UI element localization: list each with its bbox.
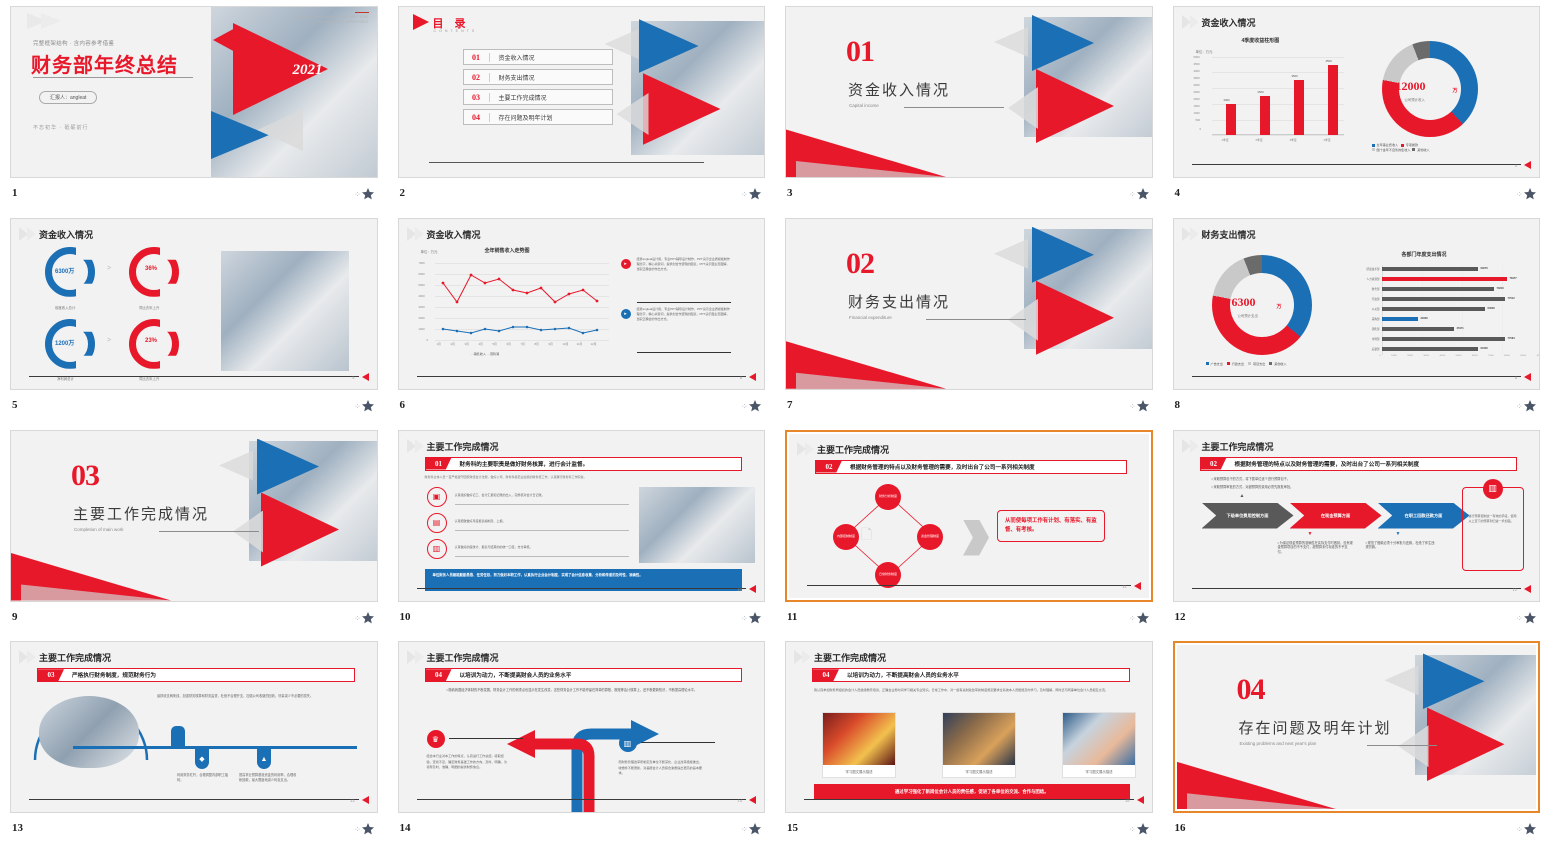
diamond-node-top: 财务分析制度 (875, 484, 901, 510)
slide-cell-5[interactable]: 资金收入情况 6300万 前度收入总计 > 36% 同比去年上升 1200万 净… (0, 212, 388, 424)
slide-cell-15[interactable]: 主要工作完成情况 04 以培训为动力，不断提高财会人员的业务水平 我认真参加财务… (775, 635, 1163, 847)
donut-legend: 全年事业费收入 专项拨款 国十金年不自筹的集收入 其他收入 (1372, 143, 1502, 152)
legend-item-2: 国十金年不自筹的集收入 (1377, 148, 1411, 152)
legend-item-1: 专项拨款 (1406, 143, 1418, 147)
bar-value-q2: 2500 (1258, 90, 1264, 94)
note-bullet-icon-1: ▸ (621, 259, 631, 269)
hbar-chart-title: 各部门年度支出情况 (1402, 251, 1447, 258)
slide-meta-10: 10 ⁘ (398, 602, 766, 632)
header-ghost-icon (1182, 227, 1200, 241)
slide-title: 主要工作完成情况 (1202, 440, 1274, 453)
svg-text:⁘: ⁘ (741, 614, 748, 623)
slide-thumbnail-6[interactable]: 资金收入情况 单位：万元 全年销售收入走势图 7000 6000 5000 40… (398, 218, 766, 390)
chev-note-2-text: 规范了借款必须十分审批与还款，杜绝了伴生违规贷款。 (1366, 541, 1435, 550)
favorite-star-icon[interactable]: ⁘ (1516, 821, 1538, 835)
slide-meta-1: 1 ⁘ (10, 178, 378, 208)
slide-meta-4: 4 ⁘ (1173, 178, 1541, 208)
legend-item-0: 全年事业费收入 (1377, 143, 1399, 147)
bar-cat-q2: 2季度 (1256, 138, 1263, 142)
slide-page-label: 12 (1513, 587, 1517, 592)
bar-value-q1: 2000 (1224, 98, 1230, 102)
slide-thumbnail-16[interactable]: 04 存在问题及明年计划 Existing problems and next … (1173, 641, 1541, 813)
bar-q2 (1260, 96, 1270, 135)
svg-text:⁘: ⁘ (1129, 825, 1136, 834)
hbar-value-1: 78477 (1510, 277, 1517, 280)
hbar-label-4: 公关部 (1336, 307, 1380, 311)
hbar-label-8: 后勤部 (1336, 347, 1380, 351)
svg-text:⁘: ⁘ (1516, 190, 1523, 199)
bar-cat-q3: 3季度 (1290, 138, 1297, 142)
slide-title: 主要工作完成情况 (814, 651, 886, 664)
toc-item-01[interactable]: 01 资金收入情况 (463, 49, 613, 65)
slide-meta-7: 7 ⁘ (785, 390, 1153, 420)
slide-cell-8[interactable]: 财务支出情况 6300 万 公司预计支出 广告支出 行政支出 项目支出 其他收入… (1163, 212, 1550, 424)
slide-baseline (29, 799, 359, 800)
header-ghost-icon (794, 650, 812, 664)
bar-value-q3: 3500 (1292, 74, 1298, 78)
favorite-star-icon[interactable]: ⁘ (741, 610, 763, 624)
slide-cell-9[interactable]: 03 主要工作完成情况 Completion of main work 9 ⁘ (0, 424, 388, 636)
hbar-3 (1382, 297, 1505, 301)
slide-meta-6: 6 ⁘ (398, 390, 766, 420)
cover-year: 2021 (293, 62, 323, 79)
line-chart-unit: 单位：万元 (421, 249, 438, 254)
slide-meta-12: 12 ⁘ (1173, 602, 1541, 632)
favorite-star-icon[interactable]: ⁘ (354, 186, 376, 200)
slide-baseline (1192, 588, 1522, 589)
side-note-text: 进行预算控制这一有效的手段，使用从上至下的预算到归进一步加强。 (1469, 514, 1517, 524)
slide-grid: ANNUAL WORK SUMMARY AND NEXT YEAR PLAN O… (0, 0, 1550, 847)
next-arrow-icon (749, 373, 756, 381)
toc-item-label: 资金收入情况 (490, 53, 612, 62)
top-bullet: ▪ 随着我国经济体制的不断发展，财务会计工作的侧重点也显示在发生改变，这些财务会… (447, 688, 735, 693)
right-note-text: 而财务管理改革所制定及单位不断深化，企业改革措施推出，收缴件不断更新，对基层会计… (619, 760, 703, 776)
chev-note-2: • 规范了借款必须十分审批与还款，杜绝了伴生违规贷款。 (1366, 541, 1438, 551)
slide-baseline (29, 376, 359, 377)
favorite-star-icon[interactable]: ⁘ (1129, 821, 1151, 835)
slide-meta-9: 9 ⁘ (10, 602, 378, 632)
line-cat-4: 4月 (479, 342, 483, 346)
hbar-4 (1382, 307, 1485, 311)
slide-thumbnail-14[interactable]: 主要工作完成情况 04 以培训为动力，不断提高财会人员的业务水平 ▪ 随着我国经… (398, 641, 766, 813)
svg-text:⁘: ⁘ (354, 614, 361, 623)
toc-item-03[interactable]: 03 主要工作完成情况 (463, 89, 613, 105)
row-text-3: 认真做好的度统计、报表与结算的的统一口径，支付审核。 (455, 545, 625, 549)
slide-page-label: 4 (1515, 163, 1517, 168)
band-number: 02 (1201, 458, 1227, 470)
bar-chart-title: 4季度收益柱形图 (1242, 37, 1280, 44)
slide-baseline (417, 799, 747, 800)
slide-number: 15 (787, 822, 798, 834)
slide-cell-2[interactable]: 目 录 CONTENTS 01 资金收入情况 02 财务支出情况 03 主要工作… (388, 0, 776, 212)
legend-item-3: 其他收入 (1274, 362, 1286, 366)
slide-thumbnail-8[interactable]: 财务支出情况 6300 万 公司预计支出 广告支出 行政支出 项目支出 其他收入… (1173, 218, 1541, 390)
header-ghost-icon (407, 439, 425, 453)
slide-meta-2: 2 ⁘ (398, 178, 766, 208)
slide-meta-13: 13 ⁘ (10, 813, 378, 843)
donut-legend: 广告支出 行政支出 项目支出 其他收入 (1206, 362, 1326, 367)
hbar-xticks: 0100002000030000400005000060000700008000… (1380, 355, 1540, 357)
svg-text:⁘: ⁘ (1516, 402, 1523, 411)
document-icon: ▣ (427, 487, 447, 507)
slide-thumbnail-1[interactable]: ANNUAL WORK SUMMARY AND NEXT YEAR PLAN O… (10, 6, 378, 178)
side-note-box: ▥ 进行预算控制这一有效的手段，使用从上至下的预算到归进一步加强。 (1462, 487, 1524, 571)
section-title-en: Completion of main work (74, 527, 124, 532)
slide-meta-16: 16 ⁘ (1173, 813, 1541, 843)
header-ghost-icon (19, 650, 37, 664)
intro-text: 财务科全体人员一直严格遵守国家财经会计法规，做好公司、财务科模范业绩核的财务核工… (425, 475, 755, 480)
image-card-2[interactable]: 学习图文展示描述 (942, 712, 1016, 778)
slide-cell-12[interactable]: 主要工作完成情况 02 根据财务管理的特点以及财务管理的需要，及时出台了公司一系… (1163, 424, 1550, 636)
slide-page-label: 10 (738, 587, 742, 592)
chevron-step-1: 下级单位费用控制方面 (1202, 503, 1294, 529)
line-cat-12: 12月 (591, 342, 597, 346)
medal-icon: ♛ (427, 730, 445, 748)
toc-item-04[interactable]: 04 存在问题及明年计划 (463, 109, 613, 125)
toc-item-number: 03 (464, 93, 490, 102)
slide-cell-3[interactable]: 01 资金收入情况 Capital income 3 ⁘ (775, 0, 1163, 212)
card-image (1063, 713, 1135, 765)
diamond-node-right: 资金管理制度 (917, 524, 943, 550)
slide-page-label: 11 (1122, 584, 1126, 589)
favorite-star-icon[interactable]: ⁘ (1129, 186, 1151, 200)
line-chart-plot: 7000 6000 5000 4000 3000 2000 1000 0 (419, 261, 609, 349)
hbar-value-5: 22320 (1421, 317, 1428, 320)
bar-q1 (1226, 104, 1236, 135)
svg-text:⁘: ⁘ (354, 825, 361, 834)
ring-value-income: 6300万 (55, 266, 74, 275)
ring-value-growth-2: 23% (145, 338, 157, 344)
toc-item-label: 财务支出情况 (490, 73, 612, 82)
down-triangle-icon-2: ▼ (1396, 531, 1401, 537)
line-cat-1: 1月 (437, 342, 441, 346)
hbar-value-6: 45471 (1457, 327, 1464, 330)
hbar-5 (1382, 317, 1418, 321)
card-image (823, 713, 895, 765)
section-divider (926, 319, 1026, 320)
next-arrow-icon (1134, 582, 1141, 590)
slide-number: 9 (12, 611, 18, 623)
slide-title: 主要工作完成情况 (427, 440, 499, 453)
favorite-star-icon[interactable]: ⁘ (1129, 398, 1151, 412)
favorite-star-icon[interactable]: ⁘ (354, 398, 376, 412)
slide-thumbnail-11[interactable]: 主要工作完成情况 02 根据财务管理的特点以及财务管理的需要，及时出台了公司一系… (785, 430, 1153, 602)
slide-title: 资金收入情况 (427, 228, 481, 241)
slide-thumbnail-3[interactable]: 01 资金收入情况 Capital income (785, 6, 1153, 178)
section-title-en: Capital income (849, 103, 879, 108)
bar-cat-q1: 1季度 (1222, 138, 1229, 142)
band-number: 02 (816, 461, 842, 473)
section-title: 资金收入情况 (848, 79, 950, 100)
toc-heading-en: CONTENTS (434, 29, 478, 33)
next-arrow-icon (1524, 373, 1531, 381)
ring-caption-growth-1: 同比去年上升 (139, 305, 159, 310)
cover-presenter: 汇报人：angleat (39, 91, 97, 104)
section-divider (904, 107, 1004, 108)
callout-text: 从而使每项工作有计划、有落实、有监督、有考核。 (997, 510, 1105, 542)
legend-item-3: 其他收入 (1417, 148, 1429, 152)
slide-meta-11: 11 ⁘ (785, 602, 1153, 632)
slide-number: 16 (1175, 822, 1186, 834)
cover-rule-top (355, 12, 369, 13)
slide-meta-8: 8 ⁘ (1173, 390, 1541, 420)
slide-thumbnail-10[interactable]: 主要工作完成情况 01 财务科的主要职责是做好财务核算，进行会计监督。 财务科全… (398, 430, 766, 602)
slide-thumbnail-2[interactable]: 目 录 CONTENTS 01 资金收入情况 02 财务支出情况 03 主要工作… (398, 6, 766, 178)
band-text: 严格执行财务制度，规范财务行为 (64, 671, 156, 679)
image-card-1[interactable]: 学习图文展示描述 (822, 712, 896, 778)
cover-english-note: ANNUAL WORK SUMMARY AND NEXT YEAR PLAN O… (289, 15, 369, 26)
line-cat-11: 11月 (577, 342, 583, 346)
chev-note-1: • 为保证现金预算的准确性在实际支付时做到，没有现金预算项目的不予支付，超预算未… (1278, 541, 1354, 556)
favorite-star-icon[interactable]: ⁘ (354, 610, 376, 624)
slide-baseline (417, 588, 747, 589)
section-title: 财务支出情况 (848, 291, 950, 312)
growth-icon: ▲ (257, 749, 271, 769)
toc-item-number: 02 (464, 73, 490, 82)
bullet-1: • 采取预算包干的方式，将下属单位逐个进行预算包干。 (1212, 477, 1462, 482)
line-legend: ···销售收入 ···营利润 (471, 352, 500, 357)
slide-title: 财务支出情况 (1202, 228, 1256, 241)
hbar-value-3: 77012 (1508, 297, 1515, 300)
header-ghost-icon (1182, 439, 1200, 453)
slide-thumbnail-7[interactable]: 02 财务支出情况 Financial expenditure (785, 218, 1153, 390)
top-bullet-text: 随着我国经济体制的不断发展，财务会计工作的侧重点也显示在发生改变，这些财务会计工… (449, 688, 698, 692)
bullet-2-text: 采取预算审批的方式，对超预算的费用必须先报批审批。 (1214, 485, 1294, 489)
svg-text:⁘: ⁘ (741, 402, 748, 411)
svg-text:⁘: ⁘ (1129, 190, 1136, 199)
file-icon: 🗋 (861, 524, 872, 548)
slide-title: 主要工作完成情况 (427, 651, 499, 664)
hbar-label-6: 销售部 (1336, 327, 1380, 331)
slide-thumbnail-15[interactable]: 主要工作完成情况 04 以培训为动力，不断提高财会人员的业务水平 我认真参加财务… (785, 641, 1153, 813)
slide-cell-16[interactable]: 04 存在问题及明年计划 Existing problems and next … (1163, 635, 1550, 847)
slide-cell-13[interactable]: 主要工作完成情况 03 严格执行财务制度，规范财务行为 最抓收支两条线，加强财务… (0, 635, 388, 847)
slide-number: 3 (787, 187, 793, 199)
slide-cell-1[interactable]: ANNUAL WORK SUMMARY AND NEXT YEAR PLAN O… (0, 0, 388, 212)
note-text-1: 利用财务杠杆，合理调整内部职工福利； (177, 773, 233, 783)
hbar-0 (1382, 267, 1478, 271)
slide-number: 10 (400, 611, 411, 623)
card-caption: 学习图文展示描述 (1063, 765, 1135, 777)
band-number: 04 (426, 669, 452, 681)
slide-thumbnail-5[interactable]: 资金收入情况 6300万 前度收入总计 > 36% 同比去年上升 1200万 净… (10, 218, 378, 390)
donut-center-caption: 公司预计收入 (1405, 97, 1425, 102)
header-ghost-icon (407, 227, 425, 241)
slide-page-label: 14 (738, 798, 742, 803)
slide-page-label: 13 (350, 798, 354, 803)
slide-baseline (417, 376, 747, 377)
slide-page-label: 6 (740, 375, 742, 380)
next-arrow-icon (1524, 585, 1531, 593)
slide-title: 资金收入情况 (39, 228, 93, 241)
slide-baseline (1192, 376, 1522, 377)
note-text-2: 提高事业预算基准资金的利用率，合理收帐回款，最大限度地减少利息支出。 (239, 773, 299, 783)
image-card-3[interactable]: 学习图文展示描述 (1062, 712, 1136, 778)
legend-item-0: 广告支出 (1211, 362, 1223, 366)
hbar-chart-plot: 研发技术部 60270 人力资源部 78477 财务部 70240 行政部 77… (1336, 265, 1540, 361)
legend-series-2: 营利润 (490, 352, 499, 356)
donut-chart (1212, 255, 1312, 355)
toc-list: 01 资金收入情况 02 财务支出情况 03 主要工作完成情况 04 存在问题及… (463, 49, 613, 129)
card-caption: 学习图文展示描述 (943, 765, 1015, 777)
slide-cell-10[interactable]: 主要工作完成情况 01 财务科的主要职责是做好财务核算，进行会计监督。 财务科全… (388, 424, 776, 636)
section-title: 存在问题及明年计划 (1239, 717, 1392, 738)
toc-item-label: 存在问题及明年计划 (490, 113, 612, 122)
chev-note-1-text: 为保证现金预算的准确性在实际支付时做到，没有现金预算项目的不予支付，超预算未付标… (1278, 541, 1353, 555)
hbar-label-0: 研发技术部 (1336, 267, 1380, 271)
next-arrow-icon (1137, 796, 1144, 804)
section-number: 03 (71, 459, 99, 493)
slide-cell-6[interactable]: 资金收入情况 单位：万元 全年销售收入走势图 7000 6000 5000 40… (388, 212, 776, 424)
donut-center-unit: 万 (1277, 303, 1282, 310)
svg-text:⁘: ⁘ (741, 190, 748, 199)
note-bullet-icon-2: ▸ (621, 309, 631, 319)
section-band: 01 财务科的主要职责是做好财务核算，进行会计监督。 (425, 457, 743, 471)
up-triangle-icon: ▲ (1240, 493, 1245, 499)
hbar-value-7: 77084 (1508, 337, 1515, 340)
legend-series-1: 销售收入 (474, 352, 486, 356)
bar-value-q4: 4500 (1326, 59, 1332, 63)
slide-thumbnail-9[interactable]: 03 主要工作完成情况 Completion of main work (10, 430, 378, 602)
favorite-star-icon[interactable]: ⁘ (1516, 398, 1538, 412)
footer-banner: 通过学习强化了新岗位会计人员的责任感，促进了各单位的交流、合作与团结。 (814, 784, 1130, 800)
hbar-value-2: 70240 (1497, 287, 1504, 290)
slide-number: 4 (1175, 187, 1181, 199)
hbar-6 (1382, 327, 1454, 331)
hbar-7 (1382, 337, 1505, 341)
favorite-star-icon[interactable]: ⁘ (1516, 610, 1538, 624)
slide-photo (221, 251, 349, 371)
header-ghost-icon (19, 227, 37, 241)
section-divider (159, 531, 259, 532)
section-title: 主要工作完成情况 (73, 503, 209, 524)
line-cat-6: 6月 (507, 342, 511, 346)
hbar-value-8: 60420 (1481, 347, 1488, 350)
band-text: 以培训为动力，不断提高财会人员的业务水平 (452, 671, 572, 679)
slide-cell-14[interactable]: 主要工作完成情况 04 以培训为动力，不断提高财会人员的业务水平 ▪ 随着我国经… (388, 635, 776, 847)
toc-item-number: 04 (464, 113, 490, 122)
diamond-node-left: 内部控制制度 (833, 524, 859, 550)
header-ghost-icon (1182, 15, 1200, 29)
hbar-value-0: 60270 (1481, 267, 1488, 270)
card-caption: 学习图文展示描述 (823, 765, 895, 777)
svg-text:⁘: ⁘ (1516, 825, 1523, 834)
band-text: 根据财务管理的特点以及财务管理的需要，及时出台了公司一系列相关制度 (1227, 460, 1420, 468)
slide-photo (639, 487, 755, 563)
line-chart-title: 全年销售收入走势图 (485, 247, 530, 254)
slide-meta-15: 15 ⁘ (785, 813, 1153, 843)
slide-thumbnail-12[interactable]: 主要工作完成情况 02 根据财务管理的特点以及财务管理的需要，及时出台了公司一系… (1173, 430, 1541, 602)
donut-center-unit: 万 (1453, 87, 1458, 94)
band-text: 以培训为动力，不断提高财会人员的业务水平 (839, 671, 959, 679)
note-text-2: 经势angleal设计用，专业PPT辅导设计制作，PPT演示企业质模板制作理念字… (637, 307, 731, 322)
favorite-star-icon[interactable]: ⁘ (1129, 610, 1151, 624)
chart-icon: ▤ (427, 513, 447, 533)
favorite-star-icon[interactable]: ⁘ (741, 821, 763, 835)
slide-number: 14 (400, 822, 411, 834)
ring-value-profit: 1200万 (55, 338, 74, 347)
line-cat-10: 10月 (563, 342, 569, 346)
toc-item-02[interactable]: 02 财务支出情况 (463, 69, 613, 85)
slide-number: 7 (787, 399, 793, 411)
next-arrow-icon (362, 373, 369, 381)
slide-photo (39, 696, 139, 768)
slide-number: 6 (400, 399, 406, 411)
slide-cell-7[interactable]: 02 财务支出情况 Financial expenditure 7 ⁘ (775, 212, 1163, 424)
hbar-2 (1382, 287, 1494, 291)
section-band: 02 根据财务管理的特点以及财务管理的需要，及时出台了公司一系列相关制度 (815, 460, 1127, 474)
bar-q4 (1328, 65, 1338, 135)
bar-chart-icon: ▥ (1483, 479, 1503, 499)
section-number: 01 (846, 35, 874, 69)
svg-text:⁘: ⁘ (741, 825, 748, 834)
ring-growth-2 (129, 319, 179, 369)
slide-baseline (807, 585, 1131, 586)
bullet-2: • 采取预算审批的方式，对超预算的费用必须先报批审批。 (1212, 485, 1462, 490)
slide-baseline (804, 799, 1134, 800)
favorite-star-icon[interactable]: ⁘ (354, 821, 376, 835)
slide-title: 主要工作完成情况 (817, 443, 889, 456)
legend-item-1: 行政支出 (1232, 362, 1244, 366)
favorite-star-icon[interactable]: ⁘ (741, 398, 763, 412)
hbar-1 (1382, 277, 1507, 281)
favorite-star-icon[interactable]: ⁘ (1516, 186, 1538, 200)
slide-number: 8 (1175, 399, 1181, 411)
hbar-label-3: 行政部 (1336, 297, 1380, 301)
hbar-label-5: 采购部 (1336, 317, 1380, 321)
line-cat-3: 3月 (465, 342, 469, 346)
bar-cat-q4: 4季度 (1324, 138, 1331, 142)
slide-thumbnail-4[interactable]: 资金收入情况 4季度收益柱形图 单位：万元 5000 4500 4000 350… (1173, 6, 1541, 178)
hbar-label-1: 人力资源部 (1336, 277, 1380, 281)
slide-number: 12 (1175, 611, 1186, 623)
section-number: 04 (1237, 673, 1265, 707)
bar-q3 (1294, 80, 1304, 135)
row-text-2: 认真细致做好月度报表编制及、上报。 (455, 519, 625, 523)
header-ghost-icon (797, 442, 815, 456)
cover-footer: 不忘初华 · 砥砺前行 (33, 124, 88, 131)
slide-meta-3: 3 ⁘ (785, 178, 1153, 208)
slide-cell-11[interactable]: 主要工作完成情况 02 根据财务管理的特点以及财务管理的需要，及时出台了公司一系… (775, 424, 1163, 636)
slide-cell-4[interactable]: 资金收入情况 4季度收益柱形图 单位：万元 5000 4500 4000 350… (1163, 0, 1550, 212)
chevron-step-3: 在职工回款还款方面 (1378, 503, 1470, 529)
row-text-1: 认真组织做好记工、会计汇报和记账的出入，完整核对会计日记账。 (455, 493, 625, 497)
slide-meta-14: 14 ⁘ (398, 813, 766, 843)
donut-center-caption: 公司预计支出 (1238, 313, 1258, 318)
bar-chart-plot: 5000 4500 4000 3500 3000 2500 2000 1500 … (1194, 57, 1344, 135)
band-number: 04 (813, 669, 839, 681)
intro-text: 我认真参加财务局组织的会计人员继续教育培训，正确会业务时间学习相关专业知识。日常… (814, 688, 1132, 694)
header-ghost-icon (407, 650, 425, 664)
balance-beam (73, 746, 357, 749)
slide-number: 11 (787, 611, 797, 623)
calculator-icon: ▥ (427, 539, 447, 559)
donut-center-value: 6300 (1232, 295, 1256, 310)
band-text: 财务科的主要职责是做好财务核算，进行会计监督。 (452, 460, 589, 468)
ring-growth-1 (129, 247, 179, 297)
favorite-star-icon[interactable]: ⁘ (741, 186, 763, 200)
cover-subtitle: 完整框架结构 · 含内容参考借鉴 (33, 39, 114, 47)
hbar-label-2: 财务部 (1336, 287, 1380, 291)
section-title-en: Existing problems and next year's plan (1240, 741, 1317, 746)
bullet-1-text: 采取预算包干的方式，将下属单位逐个进行预算包干。 (1214, 477, 1291, 481)
next-arrow-icon (749, 796, 756, 804)
chevron-step-2: 在现金预算方面 (1290, 503, 1382, 529)
slide-meta-5: 5 ⁘ (10, 390, 378, 420)
slide-thumbnail-13[interactable]: 主要工作完成情况 03 严格执行财务制度，规范财务行为 最抓收支两条线，加强财务… (10, 641, 378, 813)
toc-play-icon (413, 14, 429, 30)
donut-center-value: 12000 (1396, 79, 1426, 94)
